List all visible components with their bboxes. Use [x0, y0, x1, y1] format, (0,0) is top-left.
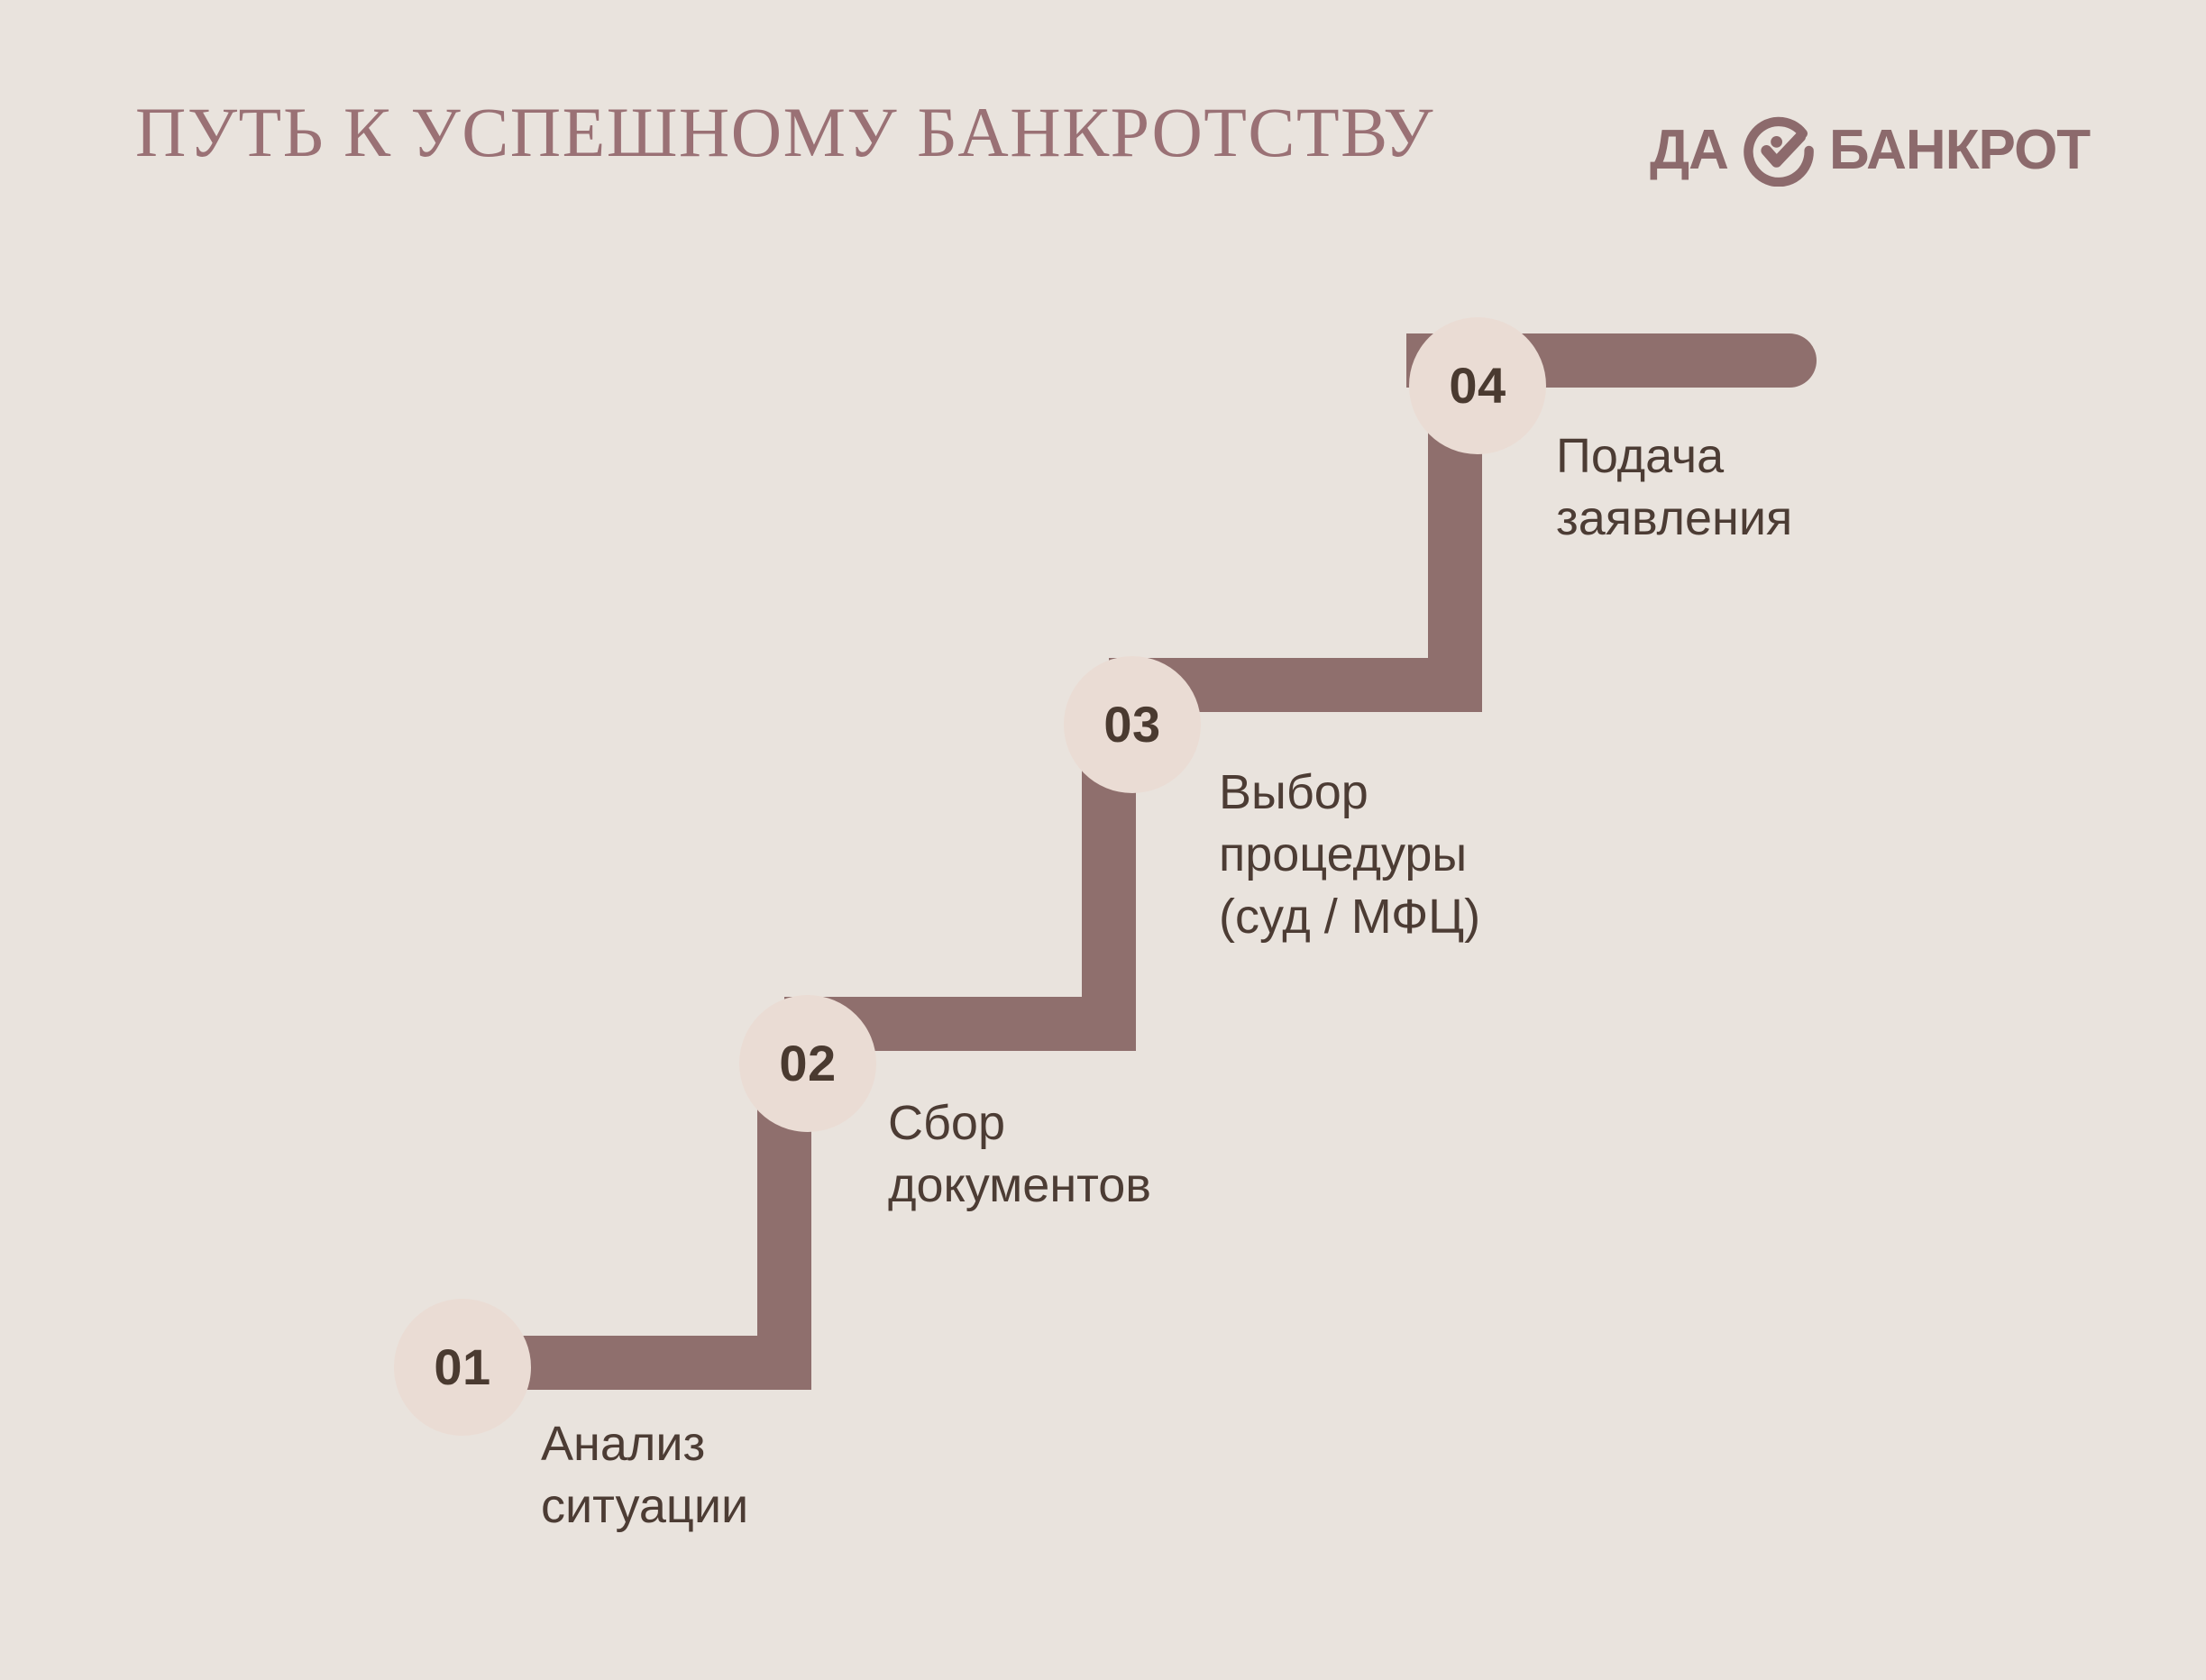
logo-word-right: БАНКРОТ: [1829, 123, 2090, 178]
step-label-04: Подача заявления: [1556, 425, 1792, 550]
step-node-02[interactable]: 02: [739, 995, 876, 1132]
brand-logo: ДА БАНКРОТ: [1650, 115, 2090, 186]
check-circle-icon: [1743, 114, 1815, 187]
infographic-canvas: ПУТЬ К УСПЕШНОМУ БАНКРОТСТВУ ДА БАНКРОТ: [0, 0, 2206, 1680]
page-title: ПУТЬ К УСПЕШНОМУ БАНКРОТСТВУ: [135, 97, 1434, 168]
step-label-02: Сбор документов: [888, 1092, 1151, 1217]
step-node-03[interactable]: 03: [1064, 656, 1201, 793]
step-label-03: Выбор процедуры (суд / МФЦ): [1219, 762, 1480, 948]
staircase-path: [0, 0, 2206, 1680]
step-label-01: Анализ ситуации: [541, 1413, 748, 1538]
step-number-03: 03: [1103, 699, 1160, 750]
step-number-01: 01: [434, 1342, 490, 1392]
step-number-02: 02: [779, 1038, 836, 1089]
header: ПУТЬ К УСПЕШНОМУ БАНКРОТСТВУ ДА БАНКРОТ: [0, 0, 2206, 234]
step-number-04: 04: [1449, 361, 1506, 411]
logo-word-left: ДА: [1650, 123, 1728, 178]
step-node-01[interactable]: 01: [394, 1299, 531, 1436]
step-node-04[interactable]: 04: [1409, 317, 1546, 454]
